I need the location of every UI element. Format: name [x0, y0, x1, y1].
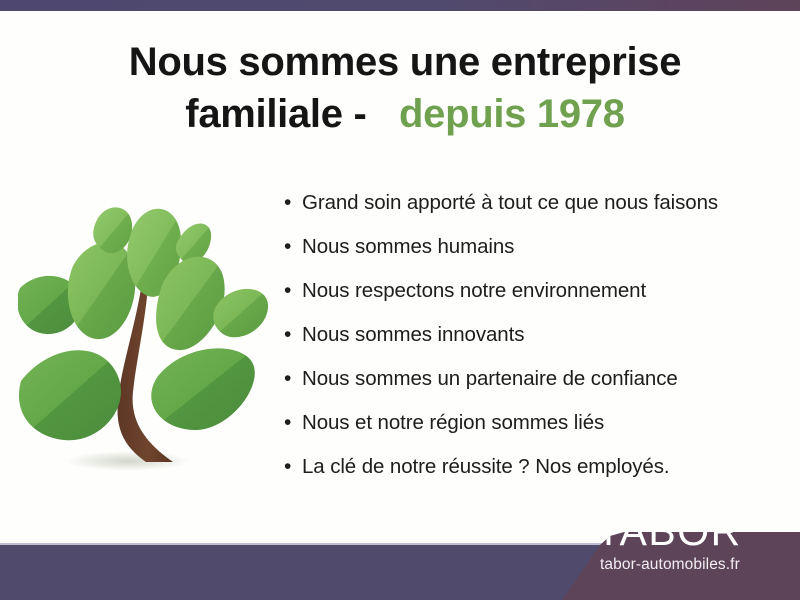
list-item-label: Nous sommes humains	[302, 234, 514, 260]
bullet-marker-icon: •	[284, 366, 302, 392]
bullet-marker-icon: •	[284, 410, 302, 436]
bullet-marker-icon: •	[284, 322, 302, 348]
list-item: • Nous et notre région sommes liés	[284, 410, 784, 454]
list-item: • Nous sommes innovants	[284, 322, 784, 366]
leaf-bottom-left	[19, 350, 121, 440]
top-accent-bar	[0, 0, 800, 11]
list-item-label: Nous et notre région sommes liés	[302, 410, 604, 436]
bullet-marker-icon: •	[284, 278, 302, 304]
slide-canvas: Nous sommes une entreprise familiale - d…	[0, 0, 800, 600]
list-item-label: Nous sommes innovants	[302, 322, 524, 348]
title-line-2-green: depuis 1978	[399, 92, 625, 136]
leaf-upper-left	[68, 242, 136, 339]
bullet-list: • Grand soin apporté à tout ce que nous …	[284, 190, 784, 498]
list-item: • La clé de notre réussite ? Nos employé…	[284, 454, 784, 498]
list-item-label: Nous respectons notre environnement	[302, 278, 646, 304]
bullet-marker-icon: •	[284, 190, 302, 216]
list-item: • Nous sommes un partenaire de confiance	[284, 366, 784, 410]
brand-wordmark: TABOR	[596, 509, 742, 553]
bullet-marker-icon: •	[284, 234, 302, 260]
title-line-1: Nous sommes une entreprise	[60, 36, 750, 88]
page-title: Nous sommes une entreprise familiale - d…	[60, 36, 750, 140]
title-line-2-black: familiale -	[185, 92, 366, 136]
tree-illustration	[18, 176, 274, 480]
list-item: • Grand soin apporté à tout ce que nous …	[284, 190, 784, 234]
list-item-label: Nous sommes un partenaire de confiance	[302, 366, 678, 392]
list-item-label: Grand soin apporté à tout ce que nous fa…	[302, 190, 718, 216]
leaf-bottom-right	[151, 348, 255, 430]
list-item-label: La clé de notre réussite ? Nos employés.	[302, 454, 669, 480]
list-item: • Nous sommes humains	[284, 234, 784, 278]
list-item: • Nous respectons notre environnement	[284, 278, 784, 322]
bullet-marker-icon: •	[284, 454, 302, 480]
brand-website-label: tabor-automobiles.fr	[600, 555, 740, 574]
leaf-small-top-left	[93, 207, 132, 253]
title-line-2: familiale - depuis 1978	[60, 88, 750, 140]
